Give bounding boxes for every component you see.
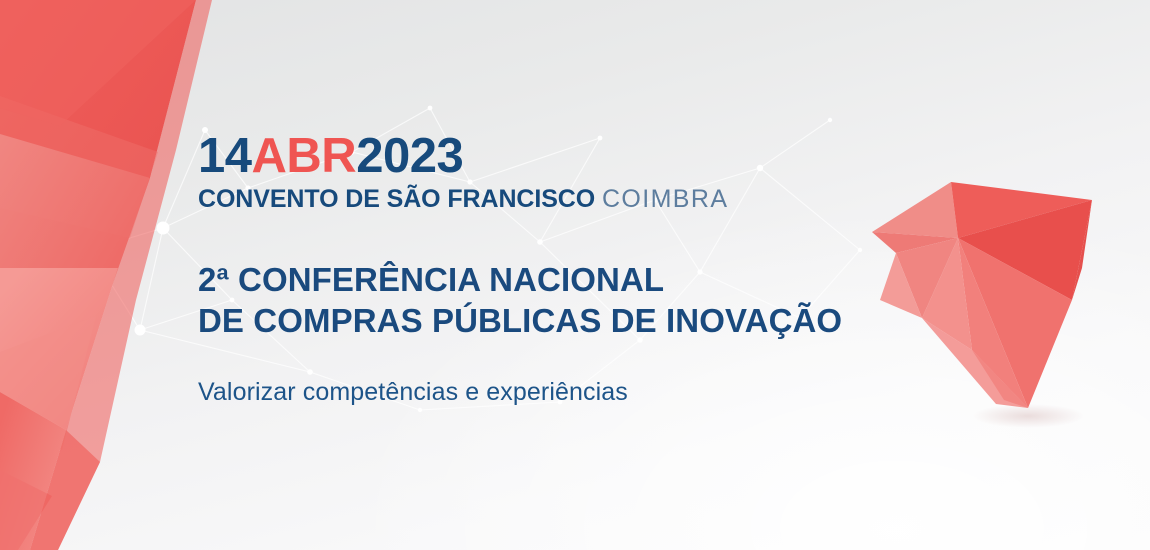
event-date-year: 2023 xyxy=(356,129,463,183)
event-date: 14ABR2023 xyxy=(198,132,958,181)
event-date-day: 14 xyxy=(198,129,252,183)
venue-name: CONVENTO DE SÃO FRANCISCO xyxy=(198,185,595,213)
venue-city: COIMBRA xyxy=(602,185,728,213)
page-title: 2ª CONFERÊNCIA NACIONAL DE COMPRAS PÚBLI… xyxy=(198,260,958,342)
banner-text-block: 14ABR2023 CONVENTO DE SÃO FRANCISCO COIM… xyxy=(198,132,958,407)
page-title-line-1: 2ª CONFERÊNCIA NACIONAL xyxy=(198,260,958,301)
event-date-month: ABR xyxy=(252,129,357,183)
tagline: Valorizar competências e experiências xyxy=(198,378,958,407)
page-title-line-2: DE COMPRAS PÚBLICAS DE INOVAÇÃO xyxy=(198,301,958,342)
event-venue: CONVENTO DE SÃO FRANCISCO COIMBRA xyxy=(198,186,958,212)
conference-banner: 14ABR2023 CONVENTO DE SÃO FRANCISCO COIM… xyxy=(0,0,1150,550)
